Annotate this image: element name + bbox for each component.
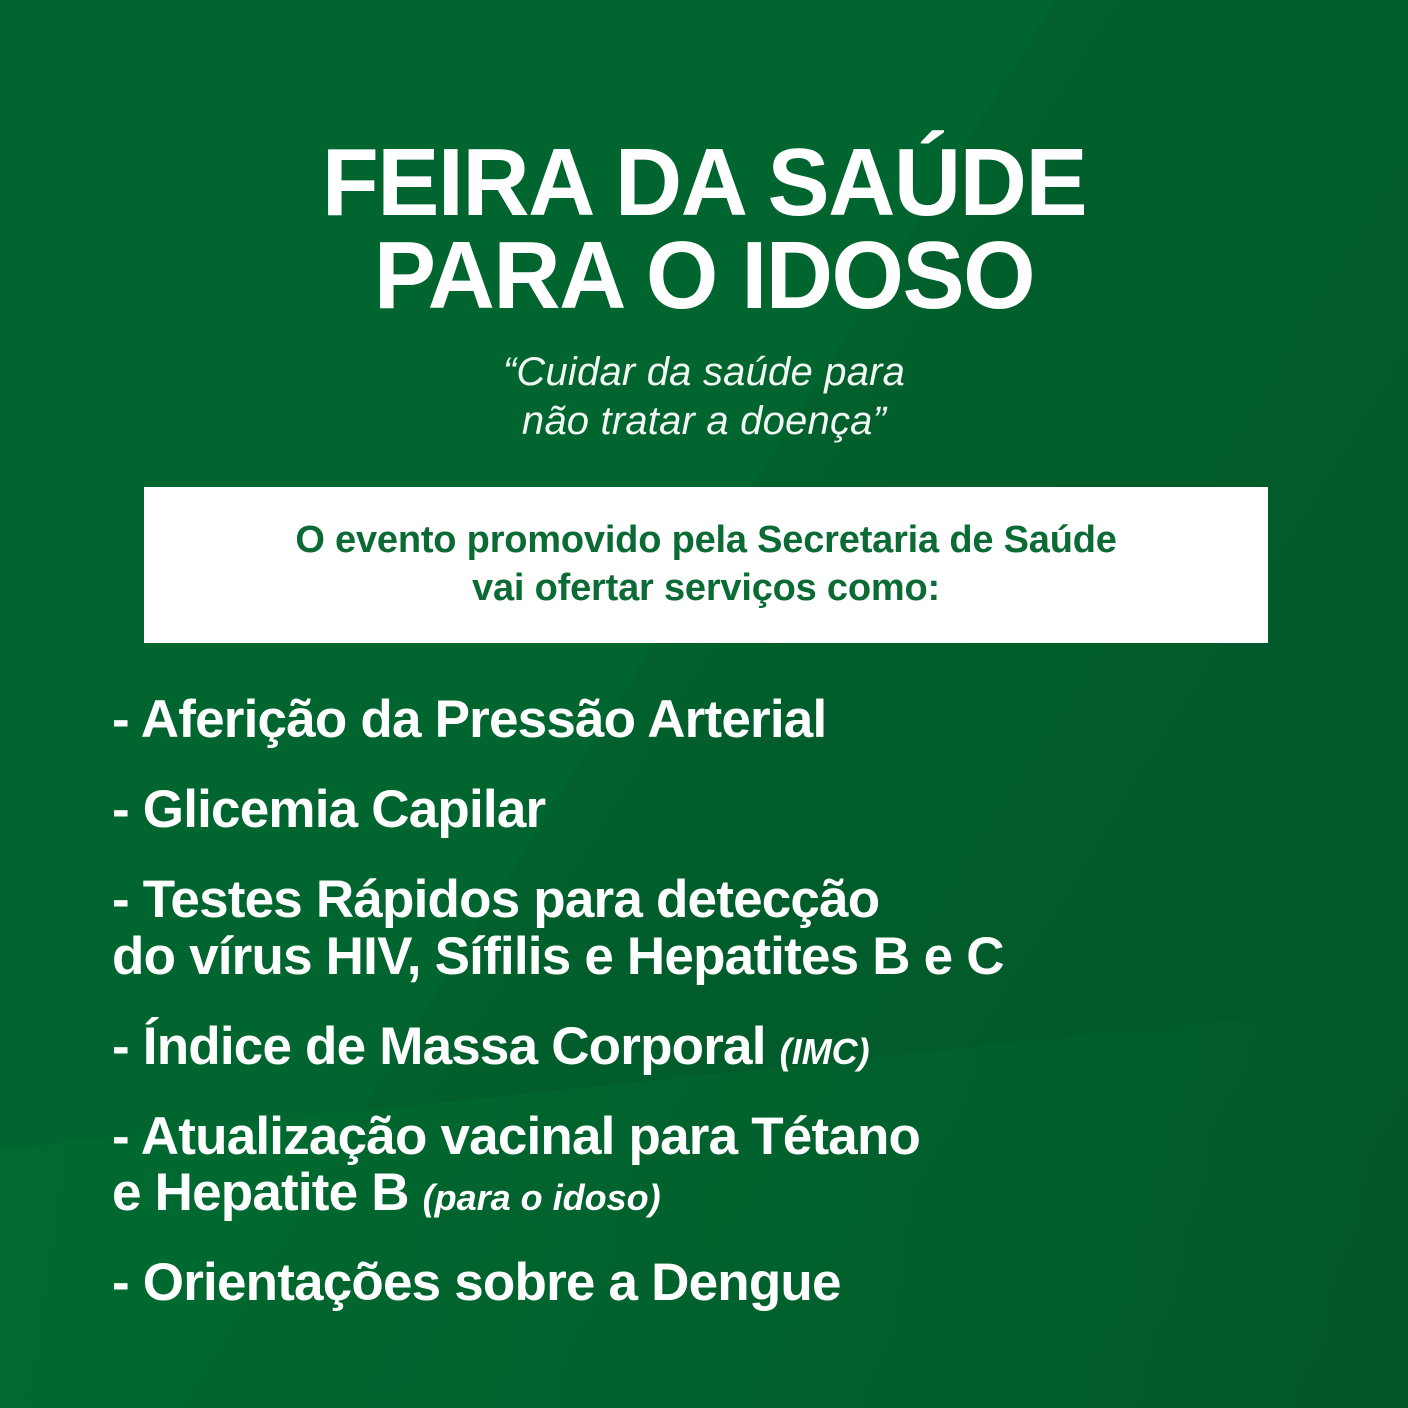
list-item: - Atualização vacinal para Tétano e Hepa… bbox=[112, 1109, 1348, 1221]
info-banner-line-2: vai ofertar serviços como: bbox=[295, 565, 1116, 613]
title-line-2: PARA O IDOSO bbox=[21, 229, 1387, 322]
poster-title: FEIRA DA SAÚDE PARA O IDOSO bbox=[0, 0, 1408, 322]
list-item: - Glicemia Capilar bbox=[112, 782, 1348, 838]
services-list: - Aferição da Pressão Arterial - Glicemi… bbox=[112, 692, 1348, 1345]
service-line-1: - Testes Rápidos para detecção bbox=[112, 872, 1348, 928]
info-banner: O evento promovido pela Secretaria de Sa… bbox=[144, 487, 1268, 643]
list-item: - Índice de Massa Corporal (IMC) bbox=[112, 1019, 1348, 1075]
service-text: - Índice de Massa Corporal bbox=[112, 1017, 780, 1076]
poster-content: FEIRA DA SAÚDE PARA O IDOSO “Cuidar da s… bbox=[0, 0, 1408, 1408]
service-line-2: e Hepatite B (para o idoso) bbox=[112, 1165, 1348, 1221]
poster-canvas: FEIRA DA SAÚDE PARA O IDOSO “Cuidar da s… bbox=[0, 0, 1408, 1408]
list-item: - Testes Rápidos para detecção do vírus … bbox=[112, 872, 1348, 984]
service-line-1: - Índice de Massa Corporal (IMC) bbox=[112, 1019, 1348, 1075]
quote-line-1: “Cuidar da saúde para bbox=[0, 348, 1408, 397]
title-line-1: FEIRA DA SAÚDE bbox=[21, 136, 1387, 229]
quote-line-2: não tratar a doença” bbox=[0, 397, 1408, 446]
service-line-2: do vírus HIV, Sífilis e Hepatites B e C bbox=[112, 929, 1348, 985]
list-item: - Orientações sobre a Dengue bbox=[112, 1255, 1348, 1311]
service-line-1: - Atualização vacinal para Tétano bbox=[112, 1109, 1348, 1165]
service-line-1: - Glicemia Capilar bbox=[112, 782, 1348, 838]
poster-subtitle-quote: “Cuidar da saúde para não tratar a doenç… bbox=[0, 348, 1408, 446]
service-text: e Hepatite B bbox=[112, 1163, 423, 1222]
service-note: (para o idoso) bbox=[423, 1177, 661, 1218]
list-item: - Aferição da Pressão Arterial bbox=[112, 692, 1348, 748]
service-line-1: - Aferição da Pressão Arterial bbox=[112, 692, 1348, 748]
info-banner-line-1: O evento promovido pela Secretaria de Sa… bbox=[295, 517, 1116, 565]
info-banner-text: O evento promovido pela Secretaria de Sa… bbox=[277, 517, 1134, 613]
service-line-1: - Orientações sobre a Dengue bbox=[112, 1255, 1348, 1311]
service-note: (IMC) bbox=[780, 1031, 870, 1072]
